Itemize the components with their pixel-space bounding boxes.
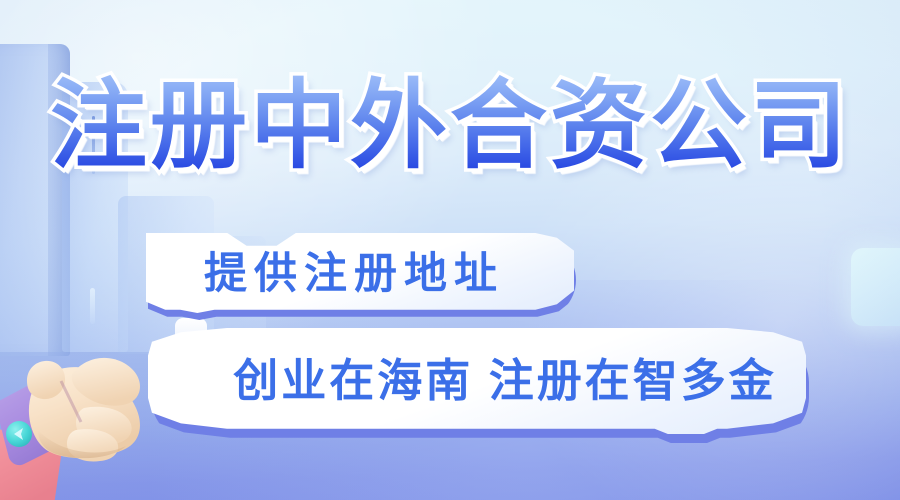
- page-title: 注册中外合资公司: [0, 74, 900, 179]
- callout-bubble-address: 提供注册地址: [146, 233, 574, 313]
- callout-bubble-slogan: 创业在海南 注册在智多金: [148, 328, 806, 434]
- right-accent-card: [851, 248, 900, 326]
- pointing-hand-icon: [0, 330, 178, 500]
- page-title-text: 注册中外合资公司: [50, 74, 850, 179]
- pointing-hand-illustration: [0, 330, 178, 500]
- promo-banner: 注册中外合资公司 注册中外合资公司 提供注册地址 创业在海南 注册在智多金: [0, 0, 900, 500]
- callout-bubble-address-label: 提供注册地址: [146, 230, 632, 310]
- building-center-base-post: [90, 288, 95, 324]
- callout-bubble-slogan-label: 创业在海南 注册在智多金: [148, 323, 856, 429]
